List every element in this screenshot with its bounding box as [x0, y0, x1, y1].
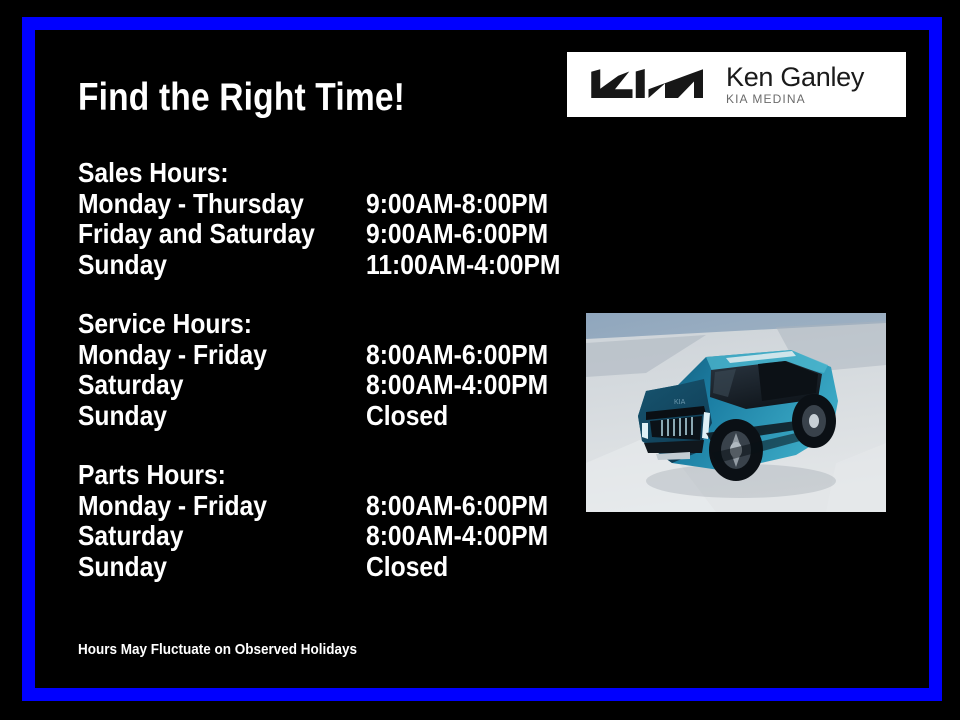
- hours-time-value: 8:00AM-6:00PM: [366, 340, 548, 371]
- hours-section: Parts Hours:Monday - Friday8:00AM-6:00PM…: [78, 460, 548, 582]
- hours-row: Sunday11:00AM-4:00PM: [78, 250, 548, 281]
- hours-section: Service Hours:Monday - Friday8:00AM-6:00…: [78, 309, 548, 431]
- hours-row: Monday - Thursday9:00AM-8:00PM: [78, 189, 548, 220]
- hours-section-heading: Sales Hours:: [78, 158, 492, 189]
- hours-section-heading: Service Hours:: [78, 309, 492, 340]
- hours-day-label: Monday - Friday: [78, 340, 267, 371]
- hours-day-label: Saturday: [78, 370, 183, 401]
- hours-row: Monday - Friday8:00AM-6:00PM: [78, 491, 548, 522]
- hours-row: Monday - Friday8:00AM-6:00PM: [78, 340, 548, 371]
- hours-row: SundayClosed: [78, 401, 548, 432]
- page-title: Find the Right Time!: [78, 76, 405, 120]
- hours-row: SundayClosed: [78, 552, 548, 583]
- dealer-logo: Ken Ganley KIA MEDINA: [567, 52, 906, 117]
- hours-time-value: Closed: [366, 401, 448, 432]
- hours-time-value: 9:00AM-8:00PM: [366, 189, 548, 220]
- dealer-name: Ken Ganley: [726, 63, 864, 91]
- dealer-subtitle: KIA MEDINA: [726, 93, 864, 106]
- hours-time-value: 11:00AM-4:00PM: [366, 250, 560, 281]
- hours-section: Sales Hours:Monday - Thursday9:00AM-8:00…: [78, 158, 548, 280]
- kia-logo-icon: [585, 68, 703, 102]
- hours-day-label: Saturday: [78, 521, 183, 552]
- svg-text:KIA: KIA: [674, 399, 686, 406]
- slide-canvas: Find the Right Time! Sales Hours:Monday …: [0, 0, 960, 720]
- hours-time-value: 8:00AM-4:00PM: [366, 521, 548, 552]
- vehicle-photo: KIA: [586, 313, 886, 512]
- hours-day-label: Sunday: [78, 250, 167, 281]
- hours-day-label: Sunday: [78, 401, 167, 432]
- hours-section-heading: Parts Hours:: [78, 460, 492, 491]
- hours-row: Saturday8:00AM-4:00PM: [78, 370, 548, 401]
- holiday-note: Hours May Fluctuate on Observed Holidays: [78, 641, 357, 659]
- hours-day-label: Monday - Friday: [78, 491, 267, 522]
- hours-list: Sales Hours:Monday - Thursday9:00AM-8:00…: [78, 158, 548, 582]
- hours-row: Friday and Saturday9:00AM-6:00PM: [78, 219, 548, 250]
- hours-time-value: 8:00AM-6:00PM: [366, 491, 548, 522]
- hours-row: Saturday8:00AM-4:00PM: [78, 521, 548, 552]
- hours-time-value: 8:00AM-4:00PM: [366, 370, 548, 401]
- hours-time-value: Closed: [366, 552, 448, 583]
- hours-day-label: Friday and Saturday: [78, 219, 315, 250]
- hours-day-label: Monday - Thursday: [78, 189, 304, 220]
- hours-day-label: Sunday: [78, 552, 167, 583]
- hours-time-value: 9:00AM-6:00PM: [366, 219, 548, 250]
- dealer-logo-text: Ken Ganley KIA MEDINA: [726, 63, 864, 106]
